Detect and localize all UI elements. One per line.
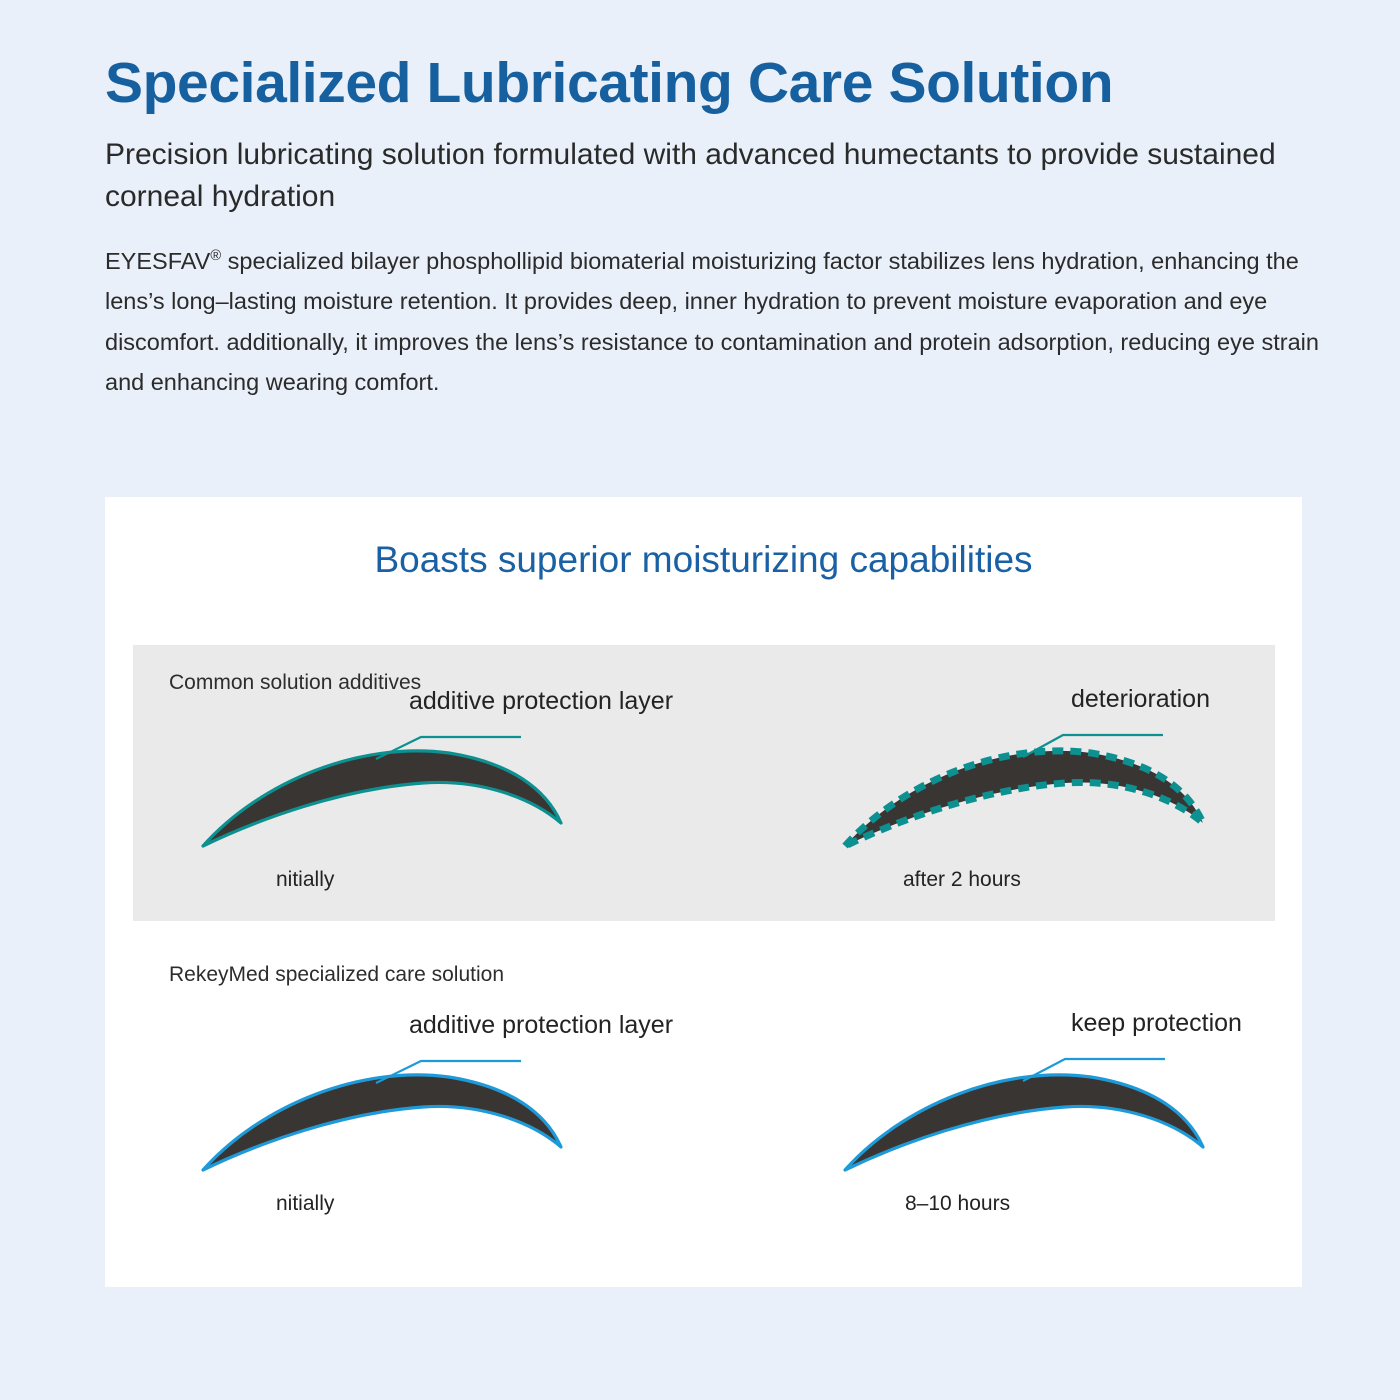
- lens-body-shape: [845, 1075, 1203, 1170]
- lens-diagram-solid-blue: [191, 1047, 621, 1237]
- callout-label: additive protection layer: [409, 1011, 673, 1040]
- lens-diagram-solid-teal: [191, 723, 621, 913]
- panel-rekeymed-solution: RekeyMed specialized care solution addit…: [133, 947, 1275, 1247]
- panel-label-common: Common solution additives: [169, 671, 421, 695]
- lens-body-shape: [845, 751, 1203, 846]
- figure-caption: after 2 hours: [903, 868, 1021, 892]
- header-block: Specialized Lubricating Care Solution Pr…: [105, 52, 1335, 403]
- brand-name: EYESFAV: [105, 248, 210, 274]
- callout-label: deterioration: [1071, 685, 1210, 714]
- lens-body-shape: [203, 751, 561, 846]
- callout-label: additive protection layer: [409, 687, 673, 716]
- poster-page: Specialized Lubricating Care Solution Pr…: [0, 0, 1400, 1400]
- body-paragraph: EYESFAV® specialized bilayer phosphollip…: [105, 241, 1320, 403]
- card-title: Boasts superior moisturizing capabilitie…: [105, 539, 1302, 581]
- figure-common-initial: additive protection layer nitially: [191, 723, 621, 913]
- panel-common-solution: Common solution additives additive prote…: [133, 645, 1275, 921]
- comparison-card: Boasts superior moisturizing capabilitie…: [105, 497, 1302, 1287]
- lens-body-shape: [203, 1075, 561, 1170]
- figure-rekeymed-initial: additive protection layer nitially: [191, 1047, 621, 1237]
- figure-caption: nitially: [276, 1192, 334, 1216]
- body-paragraph-text: specialized bilayer phosphollipid biomat…: [105, 248, 1319, 395]
- figure-common-degraded: deterioration after 2 hours: [833, 723, 1263, 913]
- lens-diagram-dashed-teal: [833, 723, 1263, 913]
- figure-caption: 8–10 hours: [905, 1192, 1010, 1216]
- figure-rekeymed-sustained: keep protection 8–10 hours: [833, 1047, 1263, 1237]
- callout-label: keep protection: [1071, 1009, 1242, 1038]
- figure-caption: nitially: [276, 868, 334, 892]
- lens-diagram-solid-blue: [833, 1047, 1263, 1237]
- registered-mark-icon: ®: [210, 248, 221, 264]
- panel-label-rekeymed: RekeyMed specialized care solution: [169, 963, 504, 987]
- page-subtitle: Precision lubricating solution formulate…: [105, 134, 1335, 219]
- page-title: Specialized Lubricating Care Solution: [105, 52, 1335, 116]
